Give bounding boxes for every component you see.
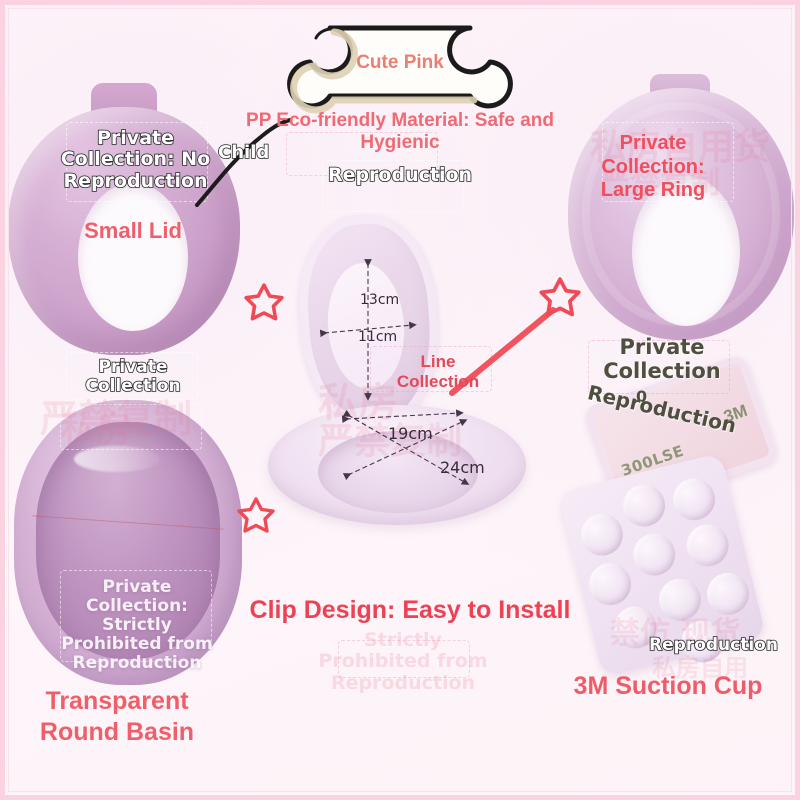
suction-cup-dot [654,574,705,625]
star-decoration-icon [538,277,582,321]
suction-cup-dot [610,602,661,653]
caption-large-ring: Private Collection: Large Ring [588,132,718,203]
caption-line-collection: Line Collection [378,352,498,392]
round-basin-highlight [74,446,160,472]
product-suction-cup: 3M 300LSE 300LSE [568,378,778,668]
suction-cup-dot [576,509,627,560]
suction-cup-dot [682,520,733,571]
product-large-ring [568,78,794,340]
caption-clip-design: Clip Design: Easy to Install [230,596,590,626]
star-decoration-icon [236,497,276,537]
suction-cup-dot [619,480,670,531]
small-lid-opening [78,183,188,331]
dimension-label-basin-width: 19cm [388,424,433,443]
suction-cup-dot [585,559,636,610]
tape-brand-label: 3M [721,401,750,428]
suction-cup-dot [629,529,680,580]
bone-banner-label: Cute Pink [272,52,528,74]
suction-cup-pad [558,453,767,678]
dimension-label-basin-length: 24cm [440,458,485,477]
dimension-label-lid-height: 13cm [360,292,399,308]
bone-banner: Cute Pink [272,8,528,118]
caption-small-lid: Small Lid [58,218,208,244]
suction-cup-dot [702,568,753,619]
dimension-label-lid-width: 11cm [358,329,397,345]
suction-cup-dot [677,616,728,667]
star-decoration-icon [243,283,285,325]
caption-round-basin: Transparent Round Basin [12,686,222,747]
caption-suction-cup: 3M Suction Cup [548,672,788,702]
product-infographic: 私房自用货 严禁复制 严禁复制 私房 严禁复制 私房 禁仿 现货 私房自用 [0,0,800,800]
product-round-basin [14,400,242,685]
caption-material: PP Eco-friendly Material: Safe and Hygie… [240,110,560,155]
suction-cup-dot [669,474,720,525]
